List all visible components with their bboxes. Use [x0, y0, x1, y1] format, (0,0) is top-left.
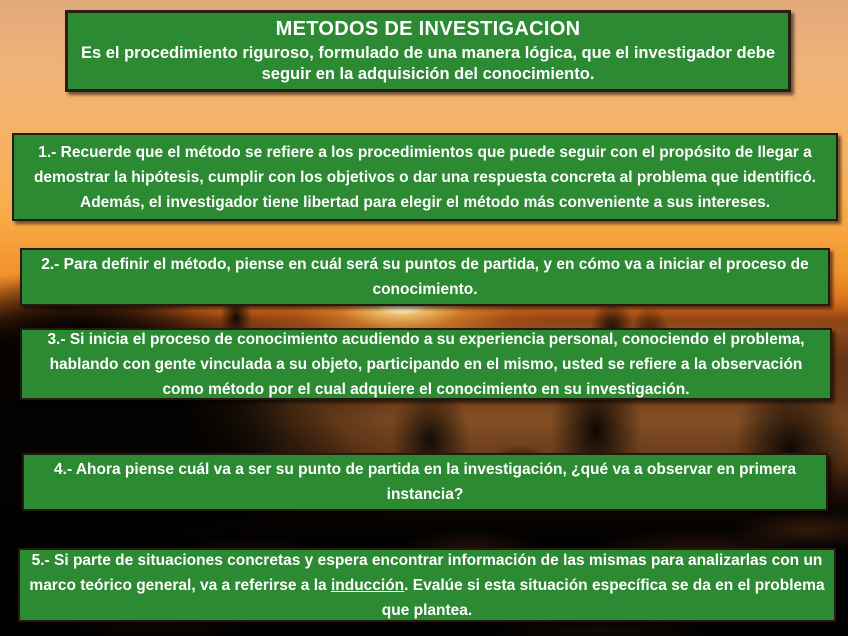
content-box-4-text: 4.- Ahora piense cuál va a ser su punto … — [34, 457, 816, 507]
content-box-2-text: 2.- Para definir el método, piense en cu… — [32, 252, 818, 302]
slide-subtitle: Es el procedimiento riguroso, formulado … — [78, 43, 778, 85]
background-ground-texture — [0, 0, 848, 636]
content-box-4[interactable]: 4.- Ahora piense cuál va a ser su punto … — [22, 453, 828, 511]
content-box-5-emphasis: inducción — [331, 577, 404, 594]
slide-canvas: METODOS DE INVESTIGACION Es el procedimi… — [0, 0, 848, 636]
content-box-3[interactable]: 3.- Si inicia el proceso de conocimiento… — [20, 328, 832, 400]
content-box-1-text: 1.- Recuerde que el método se refiere a … — [22, 140, 828, 215]
slide-title: METODOS DE INVESTIGACION — [78, 17, 778, 41]
content-box-5[interactable]: 5.- Si parte de situaciones concretas y … — [18, 548, 836, 622]
content-box-1[interactable]: 1.- Recuerde que el método se refiere a … — [12, 133, 838, 221]
content-box-5-text-after: . Evalúe si esta situación específica se… — [382, 577, 825, 619]
content-box-3-text: 3.- Si inicia el proceso de conocimiento… — [30, 327, 822, 402]
title-box[interactable]: METODOS DE INVESTIGACION Es el procedimi… — [65, 10, 791, 92]
content-box-2[interactable]: 2.- Para definir el método, piense en cu… — [20, 248, 830, 306]
content-box-5-text: 5.- Si parte de situaciones concretas y … — [28, 548, 826, 623]
